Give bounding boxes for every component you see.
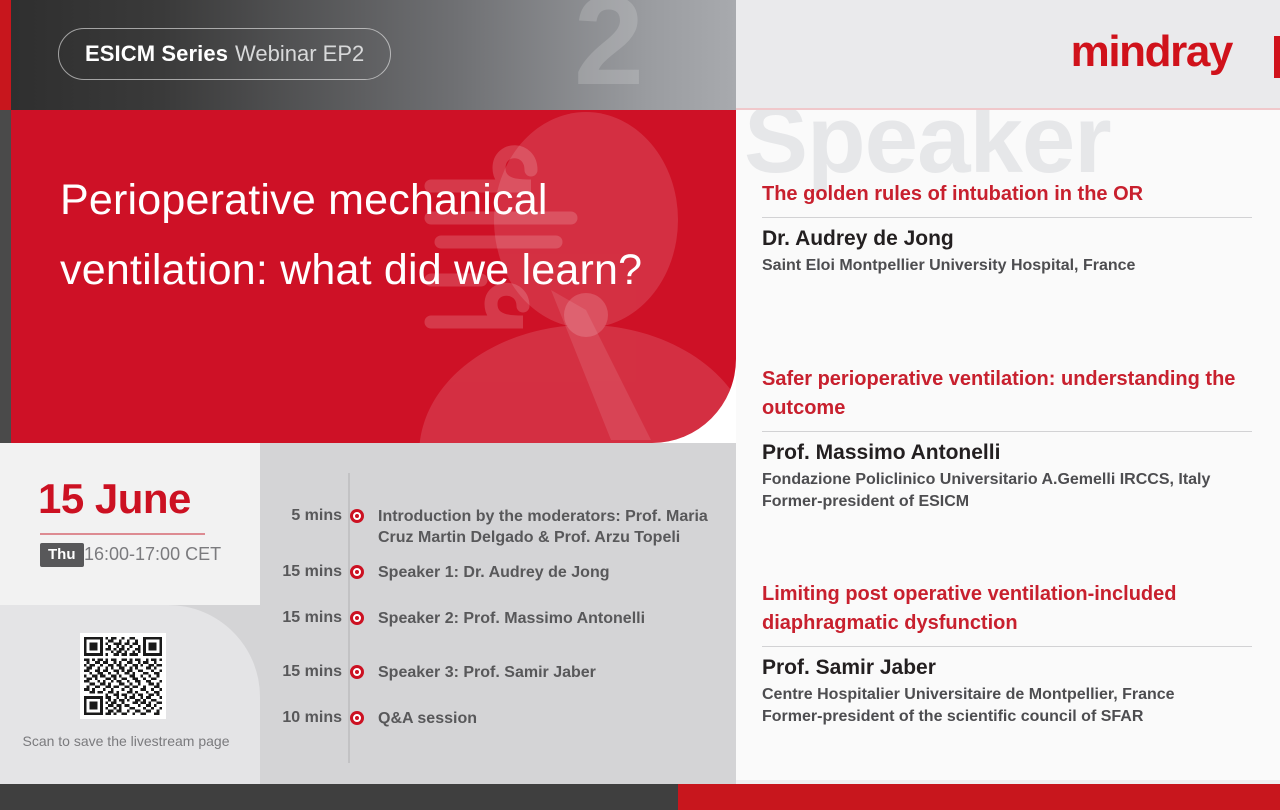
speaker-entry: Limiting post operative ventilation-incl…: [762, 580, 1260, 728]
agenda-bullet-icon: [350, 711, 364, 725]
header-bar: 2 ESICM Series Webinar EP2: [0, 0, 736, 110]
speaker-entry: The golden rules of intubation in the OR…: [762, 180, 1260, 277]
speaker-name: Dr. Audrey de Jong: [762, 227, 1260, 251]
qr-caption: Scan to save the livestream page: [0, 733, 252, 749]
episode-number-watermark: 2: [574, 0, 644, 104]
agenda-row: 5 mins Introduction by the moderators: P…: [260, 506, 736, 548]
series-pill: ESICM Series Webinar EP2: [58, 28, 391, 80]
agenda-label: Speaker 3: Prof. Samir Jaber: [378, 662, 596, 683]
agenda-row: 10 mins Q&A session: [260, 708, 736, 729]
agenda-duration: 15 mins: [260, 562, 342, 581]
agenda-bullet-icon: [350, 611, 364, 625]
hero-title: Perioperative mechanical ventilation: wh…: [60, 166, 700, 305]
agenda-label: Q&A session: [378, 708, 477, 729]
agenda-row: 15 mins Speaker 3: Prof. Samir Jaber: [260, 662, 736, 683]
talk-title: Safer perioperative ventilation: underst…: [762, 365, 1260, 423]
speaker-affiliation: Saint Eloi Montpellier University Hospit…: [762, 255, 1260, 277]
speakers-panel: Speaker The golden rules of intubation i…: [736, 110, 1280, 780]
qr-code-icon[interactable]: [80, 633, 166, 719]
agenda-duration: 5 mins: [260, 506, 342, 525]
talk-title: Limiting post operative ventilation-incl…: [762, 580, 1260, 638]
agenda-row: 15 mins Speaker 2: Prof. Massimo Antonel…: [260, 608, 736, 629]
speaker-name: Prof. Samir Jaber: [762, 656, 1260, 680]
footer-bar-dark: [0, 784, 678, 810]
talk-divider: [762, 646, 1252, 647]
speaker-affiliation: Fondazione Policlinico Universitario A.G…: [762, 469, 1260, 491]
agenda-bullet-icon: [350, 509, 364, 523]
event-time: 16:00-17:00 CET: [84, 544, 221, 565]
agenda-bullet-icon: [350, 665, 364, 679]
hero-left-edge: [0, 110, 11, 443]
series-episode: Webinar EP2: [235, 41, 364, 67]
brand-corner-mark: [1274, 36, 1280, 78]
speaker-watermark: Speaker: [744, 110, 1111, 188]
agenda-label: Speaker 1: Dr. Audrey de Jong: [378, 562, 609, 583]
agenda-label: Speaker 2: Prof. Massimo Antonelli: [378, 608, 645, 629]
webinar-poster: 2 ESICM Series Webinar EP2 mindray: [0, 0, 1280, 810]
footer-bar-red: [678, 784, 1280, 810]
hero-panel: Perioperative mechanical ventilation: wh…: [11, 110, 736, 443]
series-name: ESICM Series: [85, 41, 228, 67]
speaker-affiliation: Centre Hospitalier Universitaire de Mont…: [762, 684, 1260, 706]
speaker-name: Prof. Massimo Antonelli: [762, 441, 1260, 465]
qr-panel: Scan to save the livestream page: [0, 605, 260, 780]
agenda-row: 15 mins Speaker 1: Dr. Audrey de Jong: [260, 562, 736, 583]
agenda-duration: 15 mins: [260, 608, 342, 627]
event-date: 15 June: [38, 475, 191, 523]
agenda-duration: 15 mins: [260, 662, 342, 681]
talk-divider: [762, 431, 1252, 432]
agenda-label: Introduction by the moderators: Prof. Ma…: [378, 506, 728, 548]
agenda-list: 5 mins Introduction by the moderators: P…: [260, 443, 736, 780]
header-brand-area: mindray: [736, 0, 1280, 110]
day-badge: Thu: [40, 543, 84, 567]
talk-title: The golden rules of intubation in the OR: [762, 180, 1260, 209]
date-card: 15 June Thu 16:00-17:00 CET: [0, 443, 260, 605]
speaker-affiliation-secondary: Former-president of ESICM: [762, 491, 1260, 513]
mindray-logo: mindray: [1071, 30, 1232, 74]
talk-divider: [762, 217, 1252, 218]
speaker-entry: Safer perioperative ventilation: underst…: [762, 365, 1260, 513]
speaker-affiliation-secondary: Former-president of the scientific counc…: [762, 706, 1260, 728]
agenda-duration: 10 mins: [260, 708, 342, 727]
date-underline: [40, 533, 205, 535]
agenda-bullet-icon: [350, 565, 364, 579]
header-accent-stripe: [0, 0, 11, 110]
